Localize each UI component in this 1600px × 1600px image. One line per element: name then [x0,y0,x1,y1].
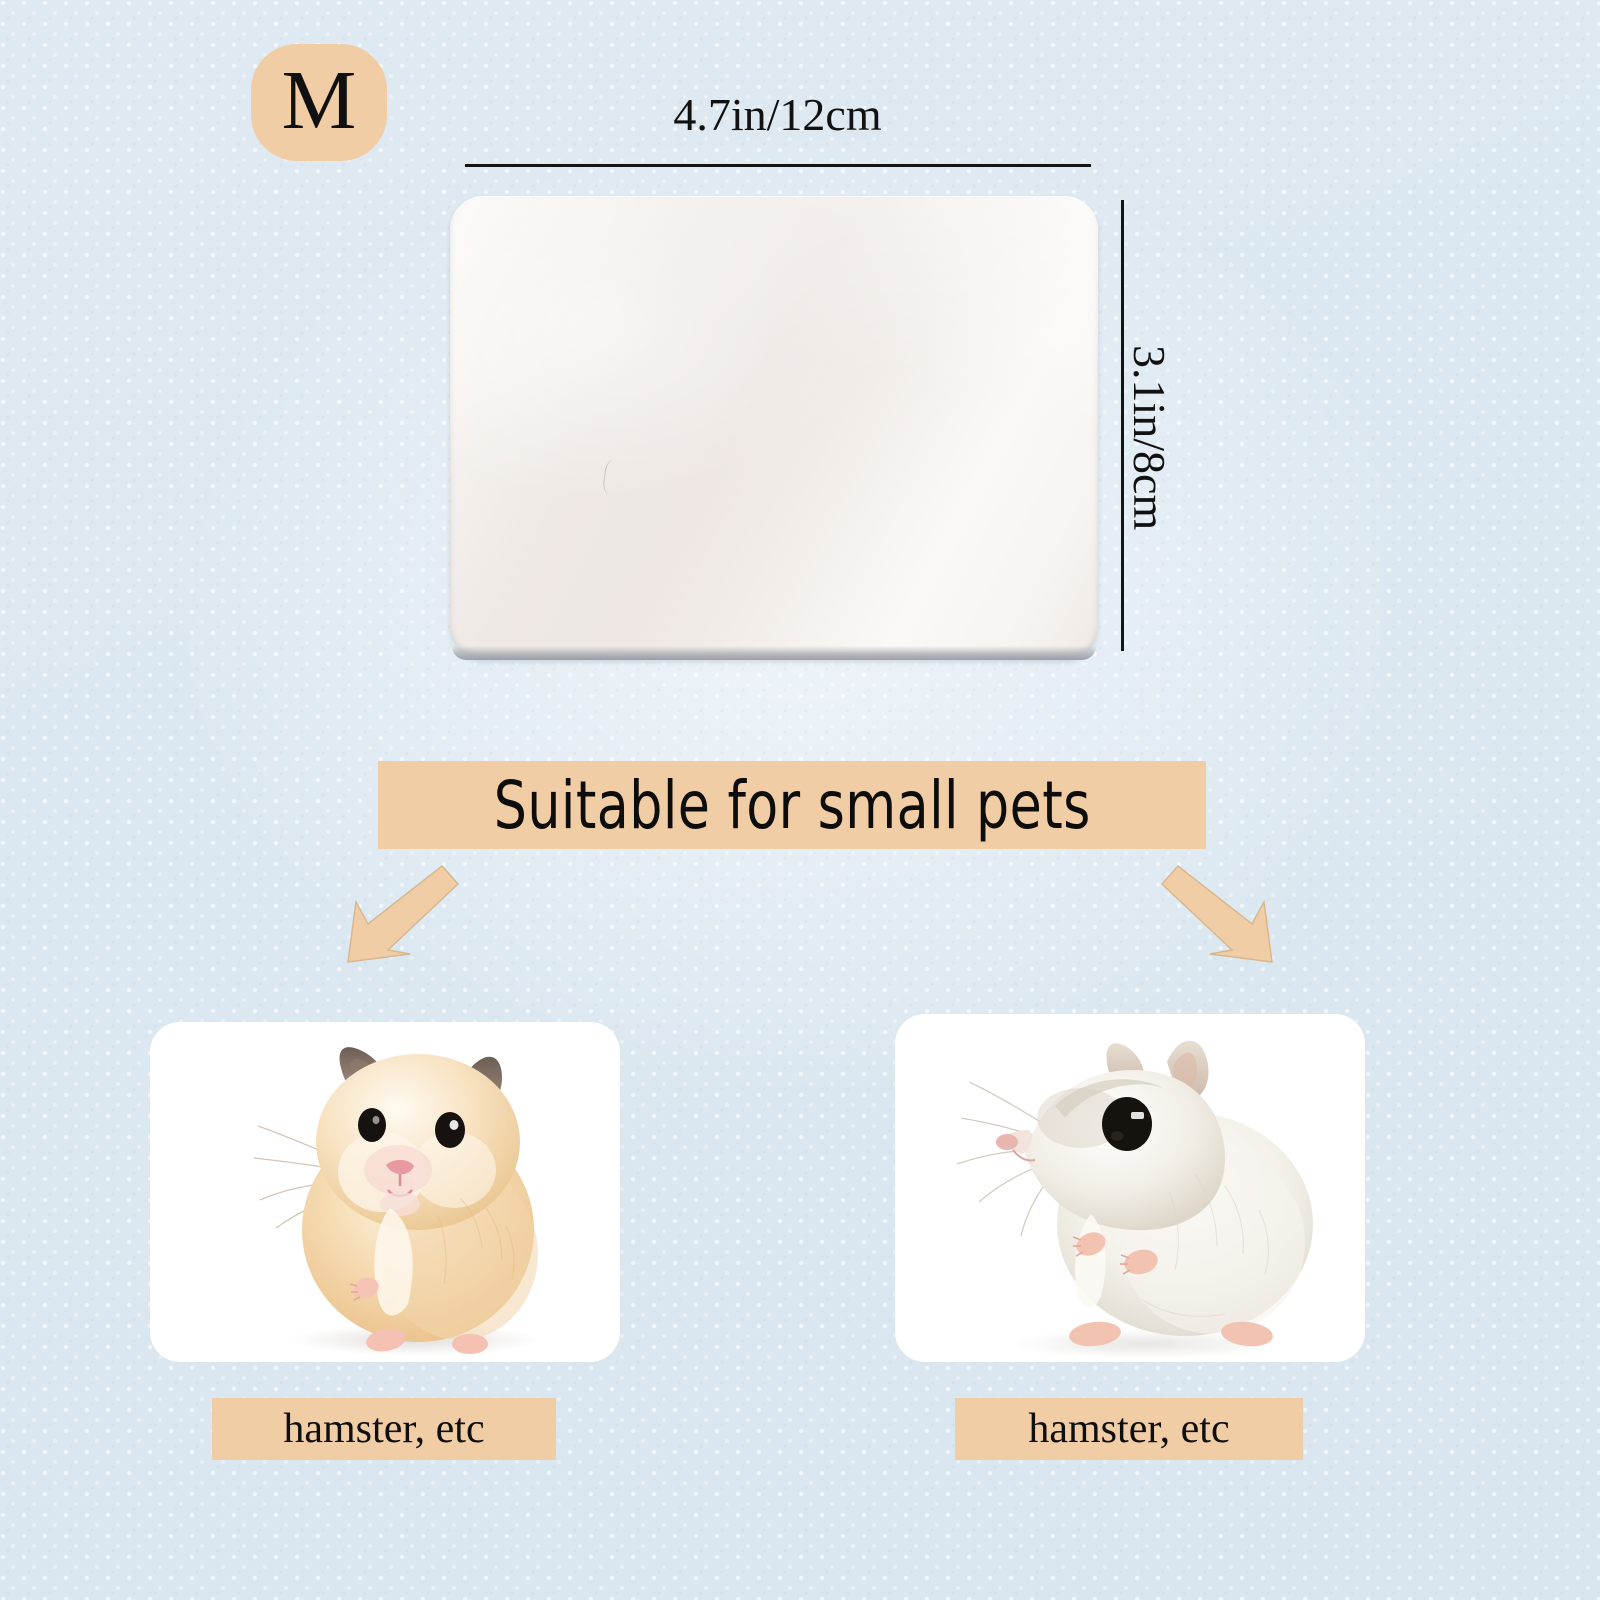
pet-caption-left: hamster, etc [212,1398,556,1460]
pet-caption-right: hamster, etc [955,1398,1303,1460]
pet-photo-card-left [150,1022,620,1362]
height-dimension-label: 3.1in/8cm [1123,345,1176,530]
hamster-golden-illustration [150,1022,620,1362]
infographic-canvas: M 4.7in/12cm 3.1in/8cm Suitable for smal… [0,0,1600,1600]
pet-photo-card-right [895,1014,1365,1362]
pet-caption-right-text: hamster, etc [1028,1405,1229,1453]
gerbil-white-illustration [895,1014,1365,1362]
width-dimension-line [465,164,1091,167]
suitability-banner-text: Suitable for small pets [493,767,1090,844]
suitability-banner: Suitable for small pets [378,761,1206,849]
width-dimension-label: 4.7in/12cm [465,88,1090,141]
arrow-down-left-icon [340,862,470,972]
arrow-down-right-icon [1150,862,1280,972]
size-badge: M [251,44,387,161]
product-mirror-plate [450,196,1098,660]
pet-caption-left-text: hamster, etc [283,1405,484,1453]
size-badge-letter: M [282,59,357,143]
